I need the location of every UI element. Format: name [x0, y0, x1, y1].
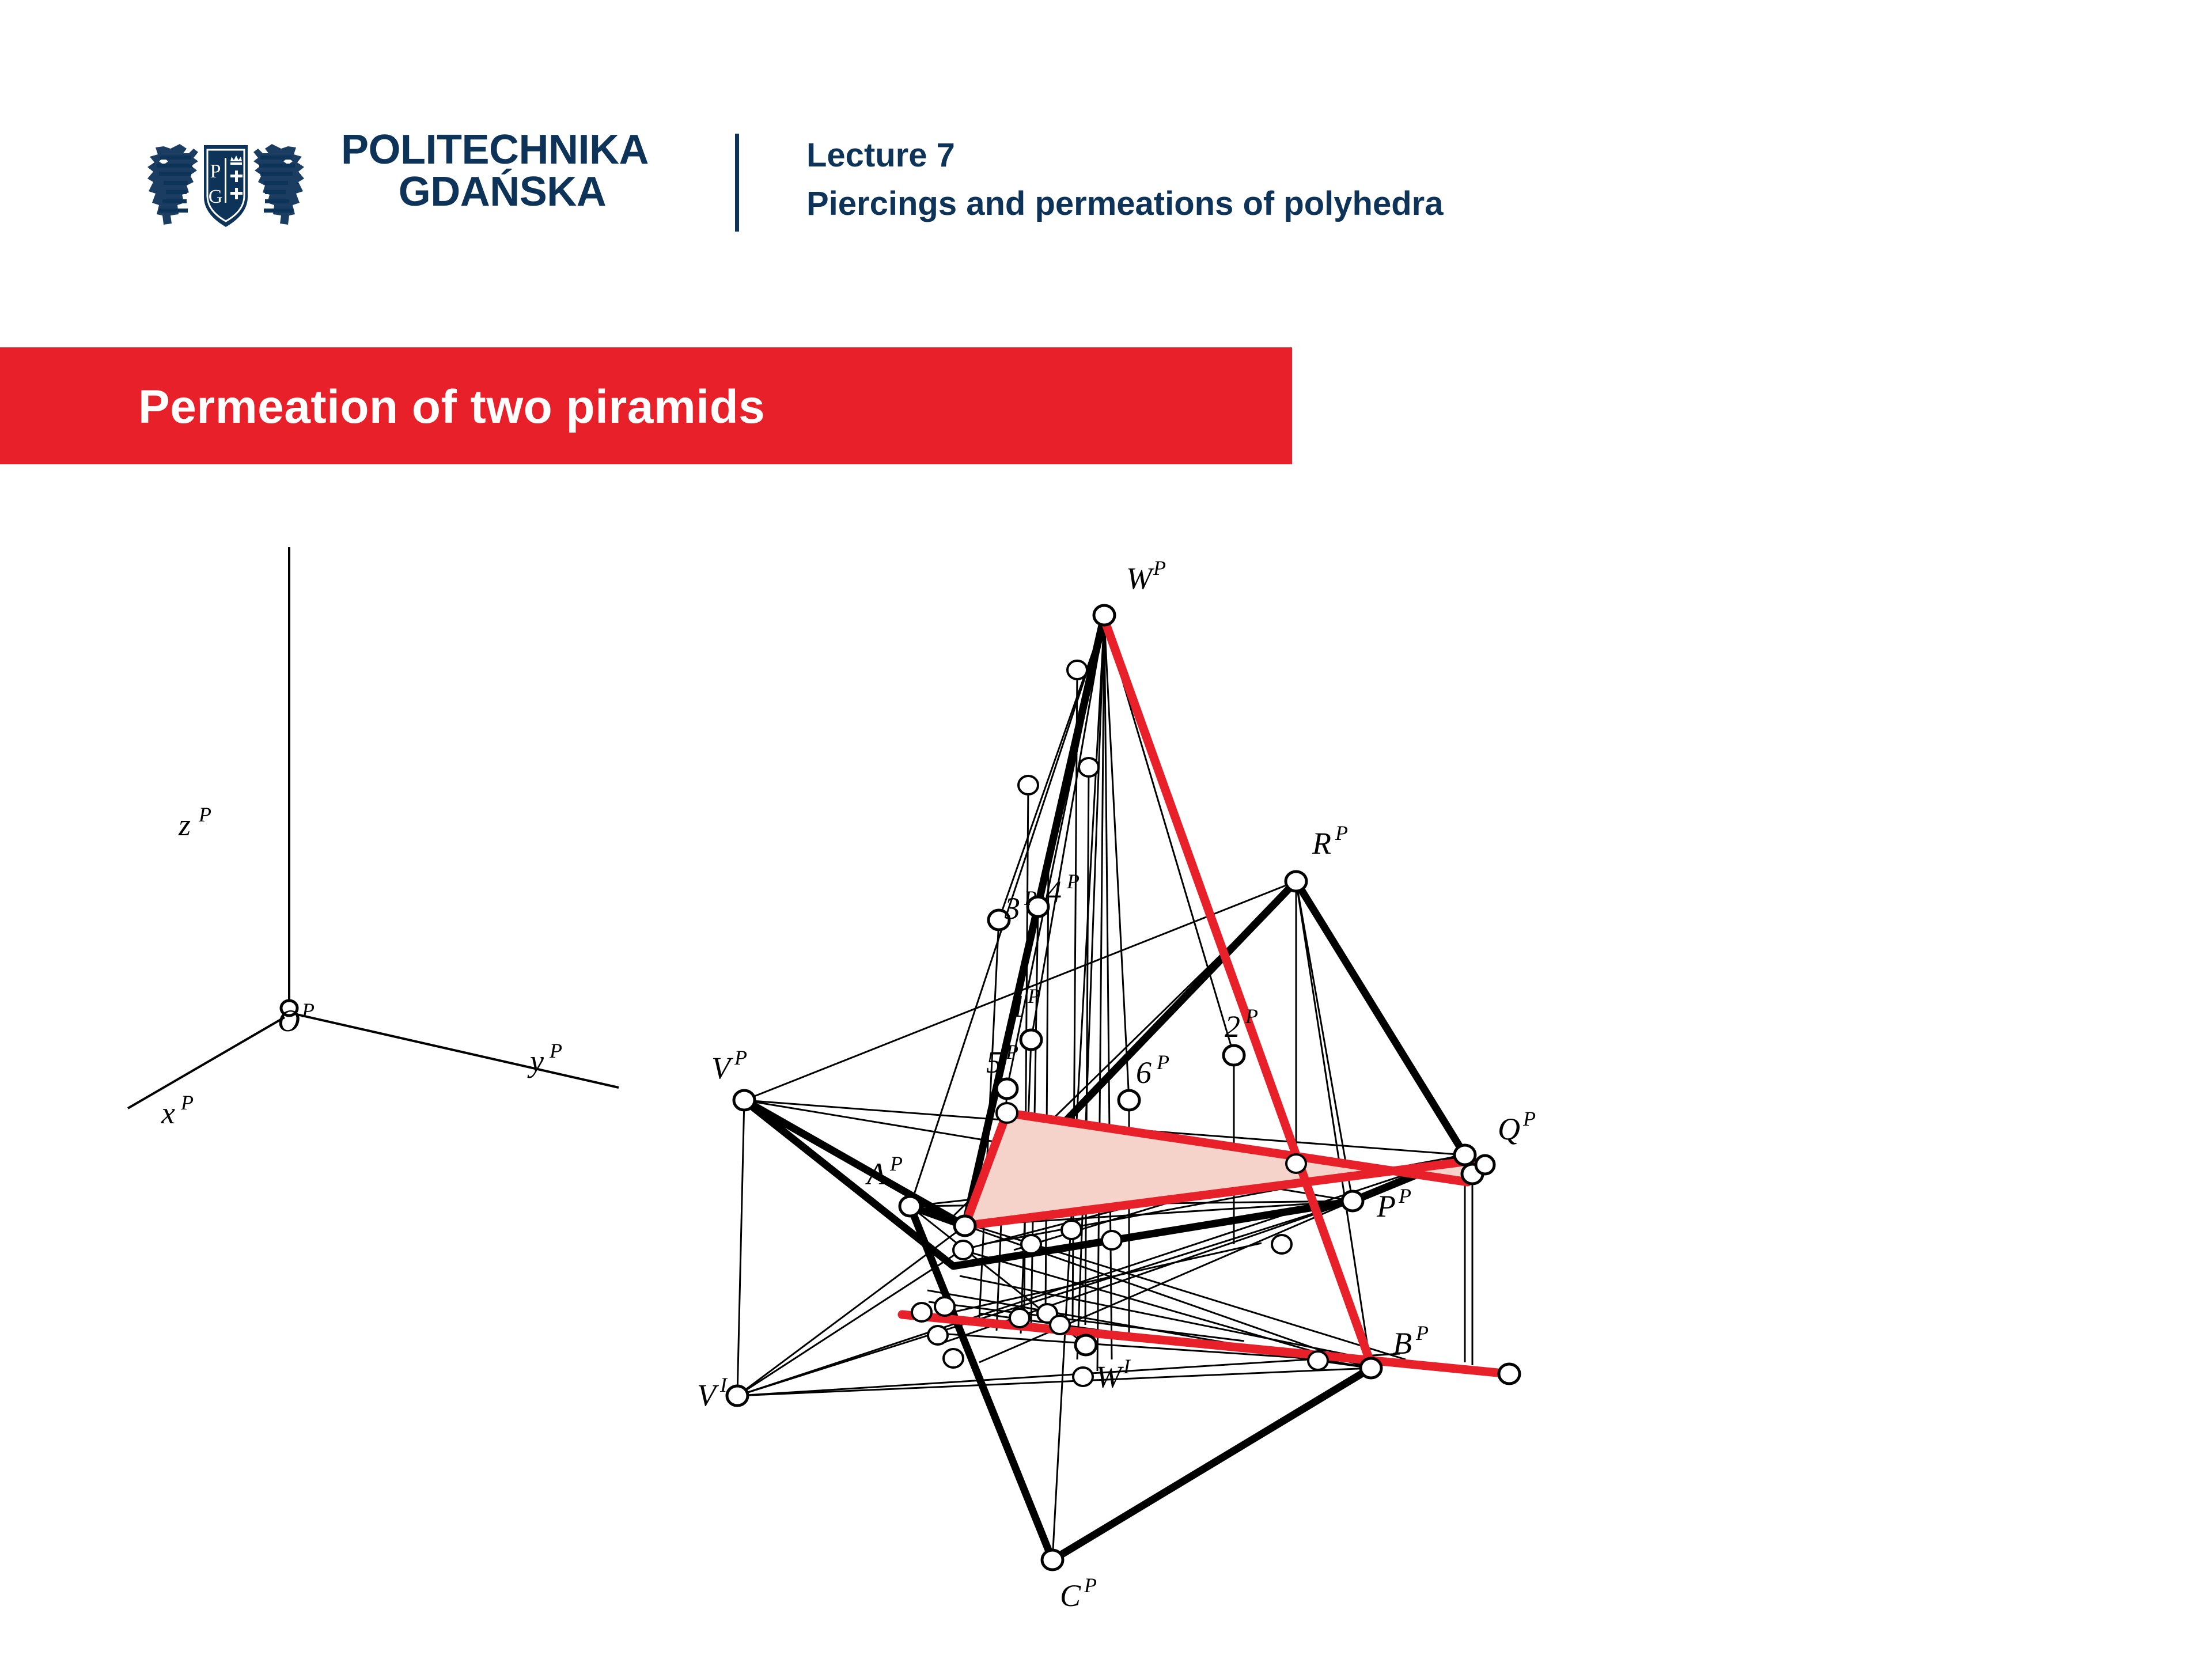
label-P: P: [1376, 1189, 1396, 1224]
label-Q: Q: [1498, 1112, 1520, 1146]
node-lower-11: [928, 1326, 948, 1344]
node-lower-15: [1272, 1235, 1291, 1253]
label-W-prime: W: [1096, 1359, 1124, 1394]
label-V-sup: P: [734, 1046, 747, 1069]
label-B-sup: P: [1415, 1321, 1429, 1344]
node-base-left: [955, 1216, 975, 1236]
header-divider: [735, 134, 739, 232]
label-origin-sup: P: [301, 999, 315, 1022]
node-A: [900, 1196, 921, 1216]
node-W-prime: [1075, 1335, 1096, 1355]
node-lower-4: [1102, 1231, 1122, 1249]
label-x-axis: x: [161, 1096, 175, 1130]
slide-header: P G POLITECHNIKA GDAŃSKA Lecture 7 Pierc…: [0, 0, 2212, 323]
label-A: A: [865, 1157, 887, 1191]
node-2: [1224, 1046, 1244, 1065]
node-V: [734, 1090, 755, 1110]
label-x-axis-sup: P: [180, 1091, 194, 1114]
label-6: 6: [1136, 1055, 1152, 1090]
node-base-far-right: [1499, 1364, 1520, 1384]
figure-labels: z P O P y P x P W P R P V P Q P A P P P …: [161, 556, 1536, 1613]
lecture-info: Lecture 7 Piercings and permeations of p…: [806, 131, 1443, 228]
node-5: [997, 1079, 1017, 1099]
label-2-sup: P: [1245, 1005, 1258, 1028]
label-R-sup: P: [1335, 821, 1348, 844]
university-name-line1: POLITECHNIKA: [341, 129, 733, 171]
label-A-sup: P: [889, 1152, 903, 1175]
node-W: [1094, 605, 1115, 625]
coordinate-axes: [128, 547, 619, 1108]
label-4: 4: [1046, 874, 1062, 909]
label-C-sup: P: [1084, 1574, 1097, 1597]
label-1: 1: [1010, 989, 1026, 1024]
node-R: [1286, 872, 1306, 891]
y-axis-line: [289, 1013, 619, 1088]
label-y-axis-sup: P: [549, 1039, 562, 1062]
node-C: [1042, 1550, 1063, 1570]
red-piercing-line-main: [1104, 619, 1371, 1364]
node-lower-8: [1010, 1309, 1029, 1327]
label-Q-sup: P: [1522, 1107, 1536, 1130]
university-name-line2: GDAŃSKA: [341, 171, 664, 213]
label-1-sup: P: [1027, 984, 1040, 1007]
node-lower-7: [935, 1297, 955, 1316]
label-5-sup: P: [1005, 1040, 1018, 1063]
node-lower-2: [1062, 1221, 1081, 1239]
label-P-sup: P: [1398, 1184, 1411, 1207]
label-W-sup: P: [1153, 556, 1166, 579]
node-Q-upper: [1455, 1145, 1475, 1165]
label-z-axis: z: [178, 808, 191, 842]
label-4-sup: P: [1066, 870, 1080, 893]
label-5: 5: [986, 1045, 1002, 1080]
label-W-prime-sup: I: [1123, 1355, 1131, 1378]
node-lower-12: [944, 1349, 963, 1368]
node-B: [1361, 1358, 1381, 1378]
label-y-axis: y: [527, 1044, 544, 1078]
node-lower-5: [953, 1241, 973, 1259]
vertex-nodes: [727, 605, 1520, 1570]
label-B: B: [1393, 1326, 1412, 1361]
label-V-prime-sup: I: [719, 1373, 728, 1396]
label-z-axis-sup: P: [198, 803, 211, 826]
university-name: POLITECHNIKA GDAŃSKA: [341, 129, 733, 214]
node-V-prime: [727, 1386, 748, 1406]
pg-crest-icon: P G: [134, 128, 318, 232]
node-edge-w-2: [1018, 776, 1038, 794]
node-Q-third: [1476, 1156, 1494, 1174]
label-V-prime: V: [697, 1378, 719, 1412]
label-W: W: [1126, 561, 1155, 596]
node-red-corner-lower: [997, 1103, 1017, 1123]
node-lower-13: [1073, 1368, 1093, 1386]
label-6-sup: P: [1156, 1051, 1169, 1074]
node-P: [1342, 1191, 1363, 1211]
label-3: 3: [1004, 891, 1020, 926]
node-6: [1119, 1090, 1139, 1110]
node-lower-10: [1050, 1316, 1070, 1334]
x-axis-line: [128, 1017, 285, 1108]
node-edge-w-3: [1079, 758, 1099, 777]
label-C: C: [1060, 1578, 1081, 1613]
crest-letter-g: G: [209, 186, 223, 207]
node-edge-w-1: [1067, 661, 1087, 679]
node-lower-1: [1286, 1154, 1306, 1173]
label-origin: O: [278, 1003, 300, 1038]
label-R: R: [1312, 826, 1331, 861]
technical-drawing: z P O P y P x P W P R P V P Q P A P P P …: [0, 495, 2212, 1659]
lecture-topic: Piercings and permeations of polyhedra: [806, 180, 1443, 228]
node-1: [1021, 1030, 1041, 1050]
node-lower-6: [912, 1303, 931, 1321]
node-lower-3: [1021, 1235, 1041, 1253]
slide-title: Permeation of two piramids: [138, 380, 765, 434]
lecture-number: Lecture 7: [806, 131, 1443, 180]
label-V: V: [711, 1051, 734, 1085]
label-2: 2: [1225, 1009, 1240, 1044]
crest-letter-p: P: [210, 161, 221, 182]
node-lower-14: [1308, 1351, 1328, 1370]
descriptive-geometry-figure: z P O P y P x P W P R P V P Q P A P P P …: [0, 495, 2212, 1659]
university-logo-block: P G POLITECHNIKA GDAŃSKA: [134, 128, 727, 237]
label-3-sup: P: [1024, 887, 1037, 910]
construction-lines: [737, 615, 1472, 1560]
